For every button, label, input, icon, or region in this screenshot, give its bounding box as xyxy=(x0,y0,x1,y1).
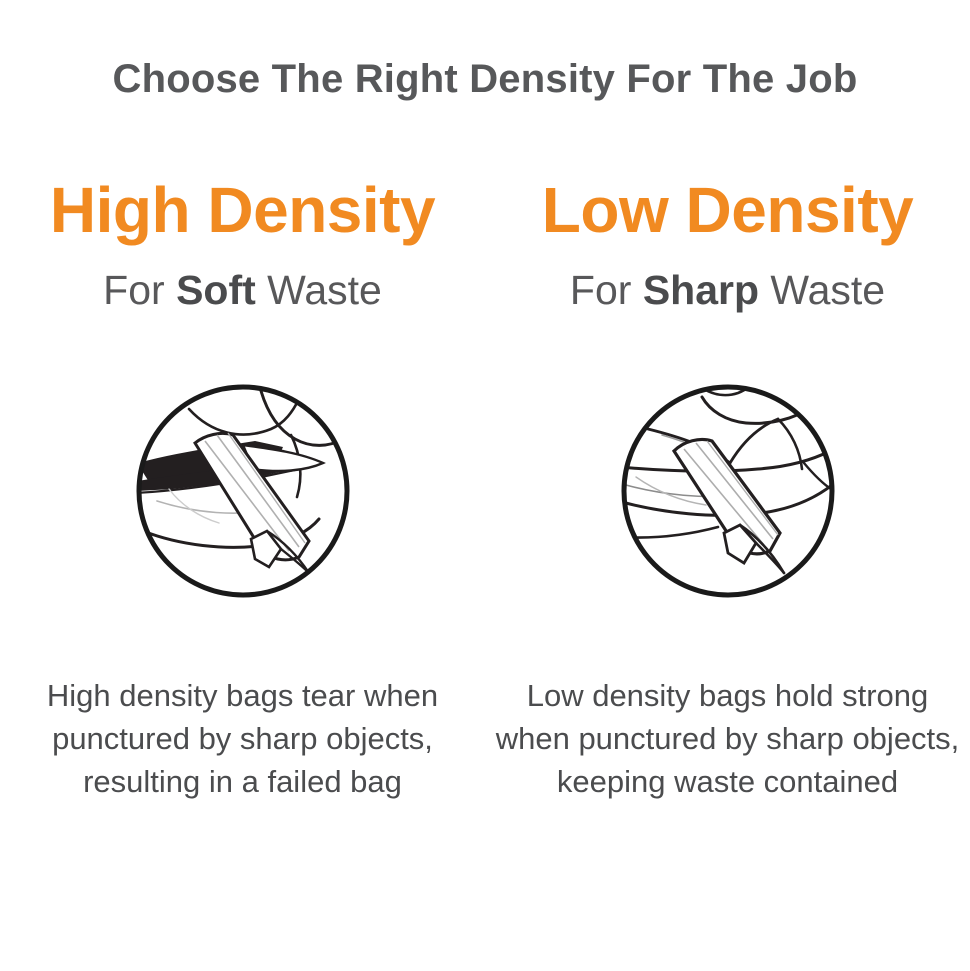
low-density-subtitle: For Sharp Waste xyxy=(570,270,885,311)
high-density-heading: High Density xyxy=(50,178,435,242)
high-density-subtitle: For Soft Waste xyxy=(103,270,382,311)
low-density-subtitle-suffix: Waste xyxy=(759,267,885,313)
low-density-illustration xyxy=(618,381,838,601)
column-high-density: High Density For Soft Waste xyxy=(0,178,485,803)
low-density-heading: Low Density xyxy=(542,178,913,242)
density-comparison-columns: High Density For Soft Waste xyxy=(0,178,970,803)
high-density-illustration xyxy=(133,381,353,601)
high-density-caption: High density bags tear when punctured by… xyxy=(8,675,478,803)
infographic-root: Choose The Right Density For The Job Hig… xyxy=(0,0,970,971)
column-low-density: Low Density For Sharp Waste xyxy=(485,178,970,803)
bag-intact-icon xyxy=(618,381,838,601)
bag-tear-icon xyxy=(133,381,353,601)
high-density-subtitle-suffix: Waste xyxy=(256,267,382,313)
page-title: Choose The Right Density For The Job xyxy=(0,56,970,102)
high-density-subtitle-emphasis: Soft xyxy=(176,267,256,313)
low-density-subtitle-prefix: For xyxy=(570,267,643,313)
low-density-caption: Low density bags hold strong when punctu… xyxy=(488,675,968,803)
low-density-subtitle-emphasis: Sharp xyxy=(643,267,759,313)
high-density-subtitle-prefix: For xyxy=(103,267,176,313)
